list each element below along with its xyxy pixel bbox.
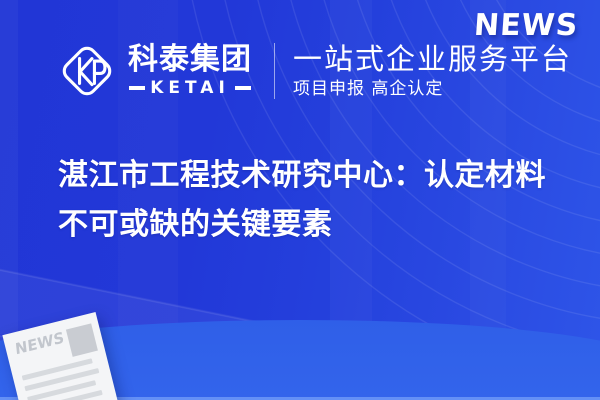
image-placeholder-icon [66, 323, 98, 356]
slogan-sub: 项目申报 高企认定 [293, 80, 572, 99]
dash-right-decoration [235, 86, 251, 90]
brand-header: 科泰集团 KETAI 一站式企业服务平台 项目申报 高企认定 [56, 40, 572, 102]
ketai-diamond-monogram-icon [56, 40, 118, 102]
page-title: 湛江市工程技术研究中心：认定材料不可或缺的关键要素 [58, 152, 563, 249]
brand-name-en: KETAI [145, 80, 235, 97]
brand-name-cn: 科泰集团 [128, 45, 252, 76]
news-banner: NEWS 科泰集团 KETAI [0, 0, 600, 400]
newspaper-masthead: NEWS [15, 330, 65, 357]
brand-name-en-row: KETAI [128, 80, 252, 97]
brand-lockup: 科泰集团 KETAI [128, 45, 252, 97]
dash-left-decoration [129, 86, 145, 90]
slogan-main: 一站式企业服务平台 [293, 43, 572, 75]
slogan-block: 一站式企业服务平台 项目申报 高企认定 [293, 43, 572, 99]
news-wordmark: NEWS [472, 8, 579, 43]
vertical-divider [274, 43, 275, 99]
